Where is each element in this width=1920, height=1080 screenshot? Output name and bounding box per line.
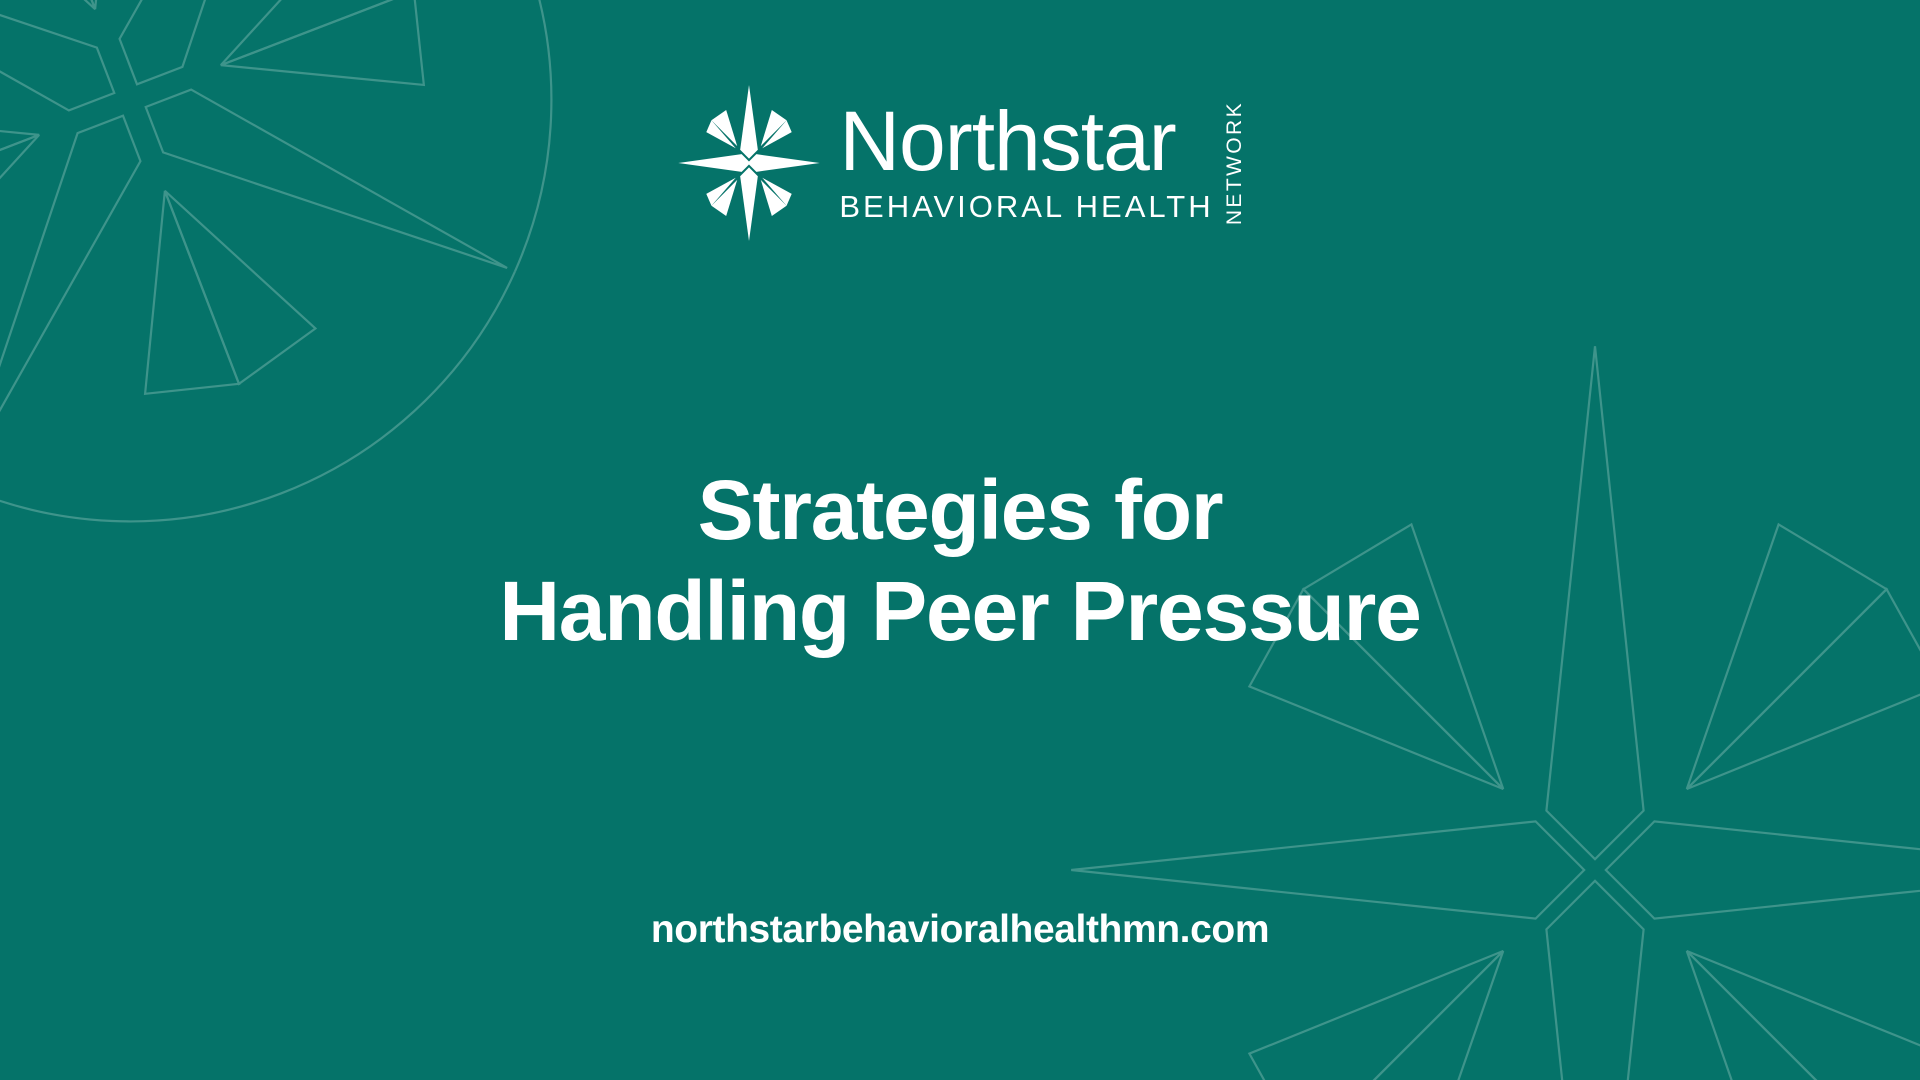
headline-line-1: Strategies for	[0, 460, 1920, 561]
logo-tagline: BEHAVIORAL HEALTH	[839, 190, 1213, 224]
brand-logo-lockup: Northstar BEHAVIORAL HEALTH NETWORK	[0, 82, 1920, 244]
logo-network-label: NETWORK	[1224, 99, 1245, 227]
website-url[interactable]: northstarbehavioralhealthmn.com	[0, 908, 1920, 952]
page-title: Strategies for Handling Peer Pressure	[0, 460, 1920, 662]
slide-canvas: Northstar BEHAVIORAL HEALTH NETWORK Stra…	[0, 0, 1920, 1080]
logo-wordmark: Northstar	[839, 102, 1213, 181]
compass-rose-watermark-icon	[1055, 330, 1920, 1080]
headline-line-2: Handling Peer Pressure	[0, 561, 1920, 662]
compass-rose-star-icon	[675, 82, 823, 244]
